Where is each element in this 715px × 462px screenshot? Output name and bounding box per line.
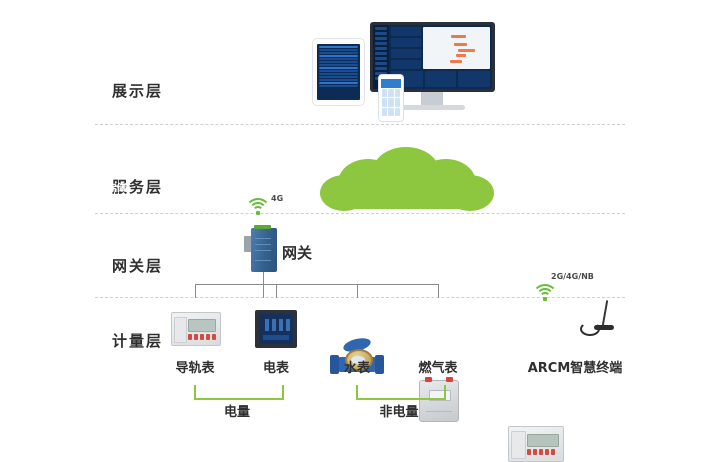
connector-gateway-drop — [263, 272, 264, 298]
cloud-item-data-storage: 数据存储 — [88, 180, 156, 194]
antenna-icon — [580, 300, 614, 336]
separator-display-service — [95, 124, 625, 125]
cloud-item-app-service: App服务 — [88, 195, 156, 209]
gateway-uplink-tag: 4G — [271, 194, 283, 203]
arcm-terminal-label: ARCM智慧终端 — [515, 357, 635, 376]
architecture-diagram: 展示层 服务层 网关层 计量层 — [0, 0, 715, 443]
cloud-service-list: 数据接收 数据存储 Web服务 App服务 — [0, 180, 176, 209]
cloud-item-data-receive: 数据接收 — [20, 180, 88, 194]
monitor-content — [389, 25, 492, 89]
bracket-non-electric — [356, 385, 446, 400]
arcm-terminal-device — [508, 426, 564, 462]
monitor-map-panel — [423, 27, 490, 69]
gateway-device — [251, 228, 277, 272]
separator-service-gateway — [95, 213, 625, 214]
connector-drop-din — [195, 284, 196, 298]
electric-meter-label: 电表 — [252, 357, 300, 376]
monitor-stat-cards — [391, 27, 421, 69]
connector-bus — [195, 284, 438, 285]
wifi-signal-icon-gateway — [246, 198, 270, 215]
bracket-non-electric-label: 非电量 — [356, 401, 442, 420]
monitor-stand-base — [399, 105, 465, 110]
layer-label-display: 展示层 — [112, 80, 163, 101]
connector-drop-gas — [438, 284, 439, 298]
wifi-signal-icon-terminal — [533, 284, 557, 301]
cloud-item-web-service: Web服务 — [20, 195, 88, 209]
phone-screen — [381, 79, 401, 117]
monitor-stand-neck — [421, 92, 443, 105]
tablet-screen — [317, 44, 360, 100]
terminal-uplink-tag: 2G/4G/NB — [551, 272, 594, 281]
bracket-electric-label: 电量 — [194, 401, 280, 420]
connector-drop-electric — [276, 284, 277, 298]
water-meter-label: 水表 — [333, 357, 381, 376]
bracket-electric — [194, 385, 284, 400]
monitor-widget-row — [391, 71, 490, 87]
cloud-title: 能耗云服务 — [0, 158, 176, 179]
layer-label-gateway: 网关层 — [112, 255, 163, 276]
din-rail-meter — [171, 312, 221, 346]
cloud-shape — [318, 147, 494, 211]
din-rail-meter-label: 导轨表 — [161, 357, 229, 376]
connector-drop-water — [357, 284, 358, 298]
tablet — [312, 38, 365, 106]
gas-meter-label: 燃气表 — [407, 357, 469, 376]
smartphone — [378, 74, 404, 122]
electric-meter — [255, 310, 297, 348]
layer-label-metering: 计量层 — [112, 330, 163, 351]
gateway-label: 网关 — [282, 242, 312, 263]
